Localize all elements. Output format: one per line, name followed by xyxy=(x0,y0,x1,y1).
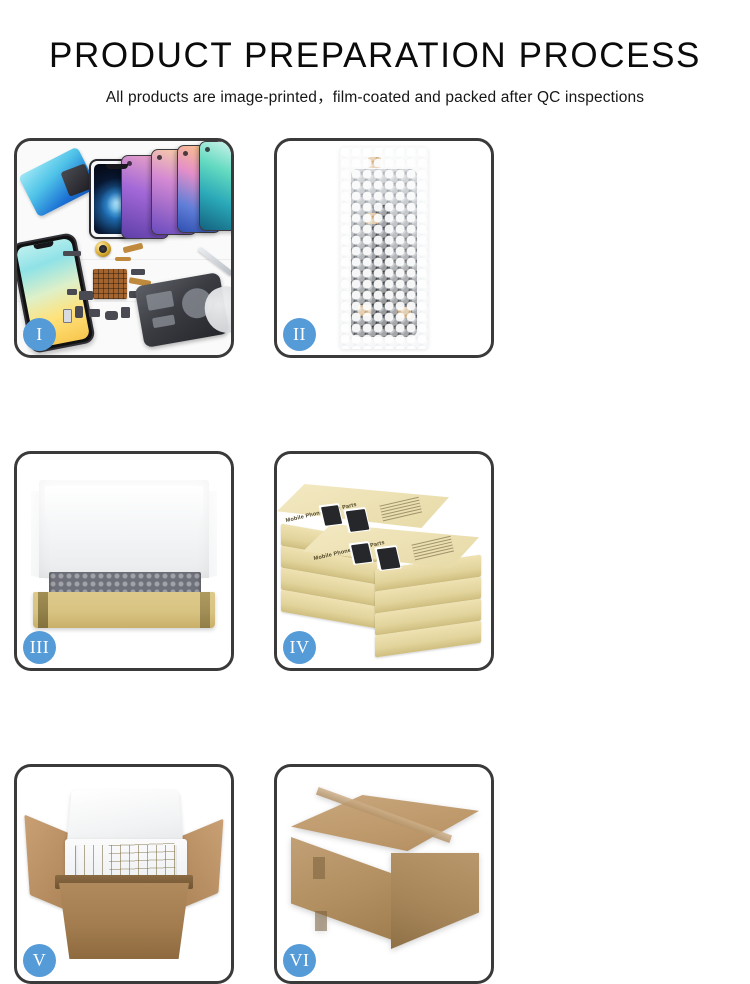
circuit-board-part xyxy=(93,269,127,299)
tweezers-tool xyxy=(198,247,231,277)
phone-teal xyxy=(199,141,231,231)
foam-lid xyxy=(39,480,209,578)
flex-cable-part xyxy=(115,257,131,261)
step-badge-2: II xyxy=(283,318,316,351)
phone-notch xyxy=(106,164,128,169)
carton-side-face xyxy=(391,853,479,949)
step-badge-6: VI xyxy=(283,944,316,977)
process-step-panel-3[interactable]: III xyxy=(14,451,234,671)
spare-part xyxy=(105,311,118,320)
housing-cutout xyxy=(146,291,174,311)
bubble-wrap-bag xyxy=(340,147,428,349)
process-step-panel-1[interactable]: I xyxy=(14,138,234,358)
open-kraft-tray xyxy=(31,480,217,630)
carton-body xyxy=(59,883,189,959)
process-step-grid: I II II xyxy=(14,138,736,984)
flex-cable-part xyxy=(123,243,144,254)
camera-lens-part xyxy=(95,241,111,257)
step-badge-1: I xyxy=(23,318,56,351)
kraft-box-stack: Mobile Phone Spare Parts Mobile Phone Sp… xyxy=(277,466,491,656)
packed-kraft-boxes-second-row xyxy=(108,842,175,878)
process-step-panel-6[interactable]: VI xyxy=(274,764,494,984)
carton-seam xyxy=(315,911,327,931)
spare-part xyxy=(63,309,72,323)
spare-part xyxy=(121,307,130,318)
spare-part xyxy=(79,291,93,300)
kraft-tray-base xyxy=(33,592,215,628)
step-badge-3: III xyxy=(23,631,56,664)
step-badge-5: V xyxy=(23,944,56,977)
screen-protector-film xyxy=(18,147,98,218)
page-title: PRODUCT PREPARATION PROCESS xyxy=(0,38,750,75)
camera-dot xyxy=(183,151,188,156)
spare-part xyxy=(67,289,77,295)
camera-dot xyxy=(157,155,162,160)
open-shipping-carton xyxy=(27,787,221,965)
process-step-panel-2[interactable]: II xyxy=(274,138,494,358)
process-step-panel-5[interactable]: V xyxy=(14,764,234,984)
spare-part xyxy=(63,251,81,256)
page-subtitle: All products are image-printed，film-coat… xyxy=(0,85,750,107)
housing-cutout xyxy=(152,315,175,329)
bubble-texture-highlights xyxy=(340,147,428,349)
carton-seam xyxy=(313,857,325,879)
camera-dot xyxy=(205,147,210,152)
process-step-panel-4[interactable]: Mobile Phone Spare Parts Mobile Phone Sp… xyxy=(274,451,494,671)
step-badge-4: IV xyxy=(283,631,316,664)
spare-part xyxy=(75,306,83,318)
sealed-shipping-carton xyxy=(291,795,479,951)
spare-part xyxy=(89,309,100,317)
page-header: PRODUCT PREPARATION PROCESS All products… xyxy=(0,0,750,107)
spare-part xyxy=(131,269,145,275)
carton-front-face xyxy=(291,837,395,941)
